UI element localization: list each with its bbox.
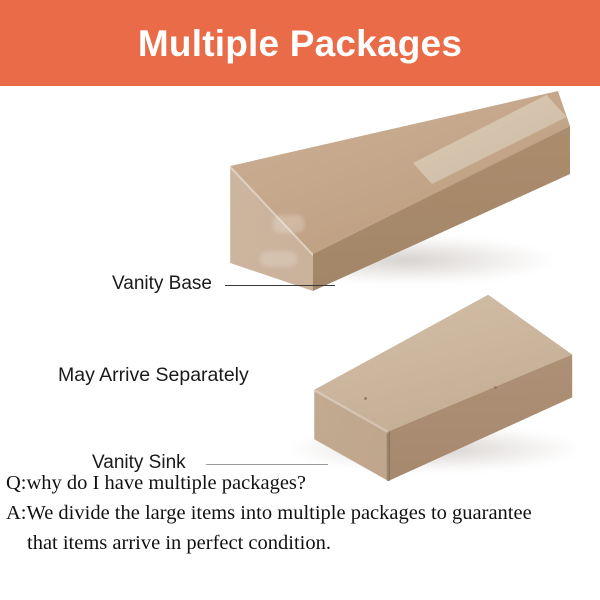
callout-label-may-arrive-separately: May Arrive Separately — [58, 366, 249, 386]
product-photo-stage: Vanity Base May Arrive Separately Vanity… — [0, 86, 600, 480]
vanity-sink-carton-image — [300, 291, 585, 481]
faq-answer-line-2: that items arrive in perfect condition. — [0, 528, 600, 558]
page-title: Multiple Packages — [138, 25, 462, 62]
faq-question: Q:why do I have multiple packages? — [0, 468, 600, 498]
callout-label-vanity-base: Vanity Base — [112, 274, 212, 293]
header-banner: Multiple Packages — [0, 0, 600, 86]
leader-line-vanity-base — [225, 285, 335, 286]
carton-scuff-mark — [273, 215, 304, 233]
faq-answer-line-1: A:We divide the large items into multipl… — [0, 498, 600, 528]
carton-scuff-mark — [260, 251, 298, 267]
sink-carton-mark — [494, 386, 497, 389]
product-infographic: Multiple Packages — [0, 0, 600, 600]
faq-block: Q:why do I have multiple packages? A:We … — [0, 468, 600, 558]
leader-line-vanity-sink — [206, 464, 328, 465]
vanity-base-carton-image — [225, 91, 570, 291]
